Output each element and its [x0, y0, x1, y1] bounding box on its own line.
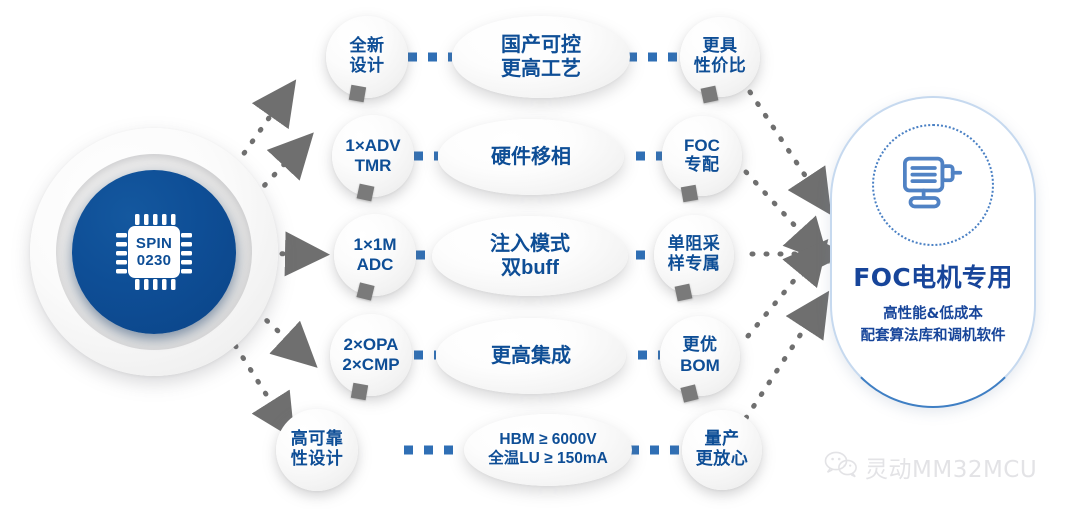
panel-title: FOC电机专用 [853, 258, 1012, 294]
feature-node-2[interactable]: 1×1M ADC [334, 214, 416, 296]
node-link-square-3 [351, 383, 368, 400]
result-node-3-line2: BOM [680, 356, 720, 376]
result-node-0-line1: 更具 [694, 37, 747, 57]
feature-node-0[interactable]: 全新 设计 [326, 16, 408, 98]
result-link-square-3 [680, 384, 698, 402]
result-node-0-line2: 性价比 [694, 57, 747, 77]
feature-node-3-line1: 2×OPA [342, 335, 399, 355]
chip-label: SPIN 0230 [108, 235, 200, 269]
feature-node-2-line2: ADC [354, 255, 397, 275]
core-chip-circle[interactable]: SPIN 0230 [72, 170, 236, 334]
panel-subtitle: 高性能&低成本 配套算法库和调机软件 [861, 304, 1006, 348]
feature-node-0-line2: 设计 [350, 57, 385, 77]
electric-motor-icon [899, 153, 967, 218]
result-node-2-line1: 单阻采 [668, 235, 721, 255]
feature-pill-0-line2: 更高工艺 [501, 57, 581, 81]
feature-pill-4-line2: 全温LU ≥ 150mA [488, 450, 608, 469]
panel-subtitle-line1: 高性能&低成本 [861, 304, 1006, 326]
feature-node-4-line2: 性设计 [291, 450, 344, 470]
feature-pill-2[interactable]: 注入模式 双buff [432, 216, 628, 296]
feature-pill-3-line1: 更高集成 [491, 344, 571, 368]
infographic-canvas: SPIN 0230 全新 设计 国产可控 更高工艺 更具 性价比 1×ADV T… [0, 0, 1080, 509]
chip-label-line2: 0230 [108, 252, 200, 269]
feature-node-3-line2: 2×CMP [342, 355, 399, 375]
feature-pill-1[interactable]: 硬件移相 [438, 119, 624, 195]
feature-node-1-line2: TMR [345, 156, 400, 176]
feature-pill-4[interactable]: HBM ≥ 6000V 全温LU ≥ 150mA [464, 414, 632, 486]
feature-node-1-line1: 1×ADV [345, 136, 400, 156]
result-node-4-line2: 更放心 [696, 450, 749, 470]
result-link-square-0 [701, 86, 719, 104]
feature-node-3[interactable]: 2×OPA 2×CMP [330, 314, 412, 396]
result-node-3[interactable]: 更优 BOM [660, 316, 740, 396]
result-node-1-line1: FOC [684, 136, 720, 156]
result-link-square-2 [675, 284, 693, 302]
result-link-square-1 [681, 185, 698, 202]
feature-node-4[interactable]: 高可靠 性设计 [276, 409, 358, 491]
feature-node-1[interactable]: 1×ADV TMR [332, 115, 414, 197]
result-node-1-line2: 专配 [684, 156, 720, 176]
result-node-2-line2: 样专属 [668, 255, 721, 275]
wechat-icon [824, 450, 858, 484]
feature-node-0-line1: 全新 [350, 37, 385, 57]
node-link-square-0 [349, 85, 366, 102]
feature-pill-0[interactable]: 国产可控 更高工艺 [452, 16, 630, 98]
result-node-4-line1: 量产 [696, 430, 749, 450]
feature-node-4-line1: 高可靠 [291, 430, 344, 450]
result-node-1[interactable]: FOC 专配 [662, 116, 742, 196]
result-panel[interactable]: FOC电机专用 高性能&低成本 配套算法库和调机软件 [830, 96, 1036, 408]
result-node-4[interactable]: 量产 更放心 [682, 410, 762, 490]
feature-pill-2-line1: 注入模式 [490, 232, 570, 256]
motor-icon-ring [872, 124, 994, 246]
feature-pill-3[interactable]: 更高集成 [436, 318, 626, 394]
node-link-square-1 [357, 184, 375, 202]
watermark-text: 灵动MM32MCU [865, 450, 1037, 484]
result-node-0[interactable]: 更具 性价比 [680, 17, 760, 97]
feature-pill-0-line1: 国产可控 [501, 33, 581, 57]
chip-icon: SPIN 0230 [108, 206, 200, 298]
watermark: 灵动MM32MCU [824, 450, 1037, 484]
result-to-panel-arrows [746, 92, 812, 418]
chip-label-line1: SPIN [108, 235, 200, 252]
panel-subtitle-line2: 配套算法库和调机软件 [861, 326, 1006, 348]
feature-pill-4-line1: HBM ≥ 6000V [488, 431, 608, 450]
feature-pill-1-line1: 硬件移相 [491, 145, 571, 169]
result-node-2[interactable]: 单阻采 样专属 [654, 215, 734, 295]
result-node-3-line1: 更优 [680, 336, 720, 356]
node-link-square-2 [356, 282, 374, 300]
feature-node-2-line1: 1×1M [354, 235, 397, 255]
feature-pill-2-line2: 双buff [490, 256, 570, 280]
